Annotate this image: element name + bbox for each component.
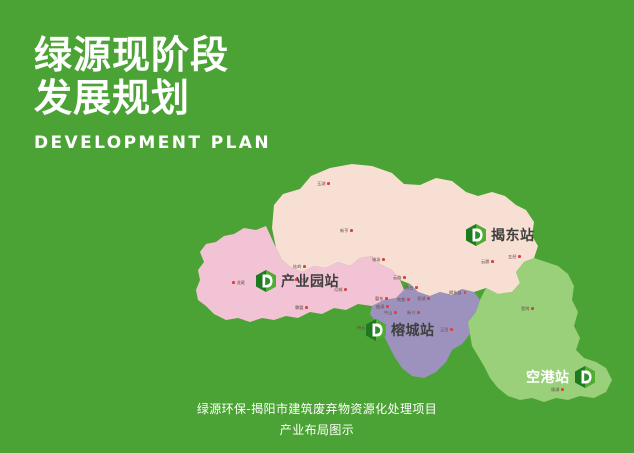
town-label: 霖磐 (295, 305, 308, 310)
town-dot-icon (415, 286, 418, 289)
town-name: 玉湖 (317, 181, 325, 186)
station-marker-industrial-park[interactable]: 产业园站 (256, 270, 339, 292)
title-block: 绿源现阶段 发展规划 DEVELOPMENT PLAN (34, 34, 364, 153)
station-label-jiedong: 揭东站 (491, 225, 535, 245)
town-label: 揭东县 (449, 290, 466, 295)
town-name: 揭东县 (449, 290, 462, 295)
town-dot-icon (327, 182, 330, 185)
town-name: 渔湖 (417, 296, 425, 301)
town-dot-icon (561, 388, 564, 391)
caption-line-1: 绿源环保-揭阳市建筑废弃物资源化处理项目 (0, 399, 634, 420)
town-name: 磐东 (375, 296, 383, 301)
town-dot-icon (303, 265, 306, 268)
caption-block: 绿源环保-揭阳市建筑废弃物资源化处理项目 产业布局图示 (0, 399, 634, 441)
town-dot-icon (450, 328, 453, 331)
poster-root: 绿源现阶段 发展规划 DEVELOPMENT PLAN 玉湖新亨锡场桂岭白塔龙尾… (0, 0, 634, 453)
town-dot-icon (232, 281, 235, 284)
town-label: 曲溪 (376, 304, 389, 309)
town-name: 地都 (397, 297, 405, 302)
town-name: 云路 (393, 275, 401, 280)
town-label: 锡场 (372, 257, 385, 262)
town-name: 曲溪 (376, 304, 384, 309)
town-label: 中山 (384, 310, 397, 315)
town-label: 渔湖 (417, 296, 430, 301)
town-label: 云鼎 (481, 259, 494, 264)
station-label-industrial-park: 产业园站 (281, 271, 339, 291)
town-dot-icon (305, 306, 308, 309)
town-name: 登岗 (521, 306, 529, 311)
town-name: 云鼎 (481, 259, 489, 264)
town-label: 桂岭 (293, 264, 306, 269)
town-dot-icon (344, 288, 347, 291)
town-dot-icon (531, 307, 534, 310)
station-label-rongcheng: 榕城站 (391, 320, 435, 340)
town-dot-icon (386, 305, 389, 308)
station-marker-rongcheng[interactable]: 榕城站 (366, 319, 435, 341)
town-name: 桂岭 (293, 264, 301, 269)
town-name: 玉滘 (440, 327, 448, 332)
town-name: 中山 (384, 310, 392, 315)
town-dot-icon (407, 298, 410, 301)
town-name: 锡场 (372, 257, 380, 262)
town-name: 龙尾 (237, 280, 245, 285)
greenyuan-logo-icon (466, 224, 486, 246)
town-name: 梅云 (357, 325, 365, 330)
town-name: 霖磐 (295, 305, 303, 310)
town-name: 新兴 (407, 310, 415, 315)
town-dot-icon (417, 311, 420, 314)
town-dot-icon (382, 258, 385, 261)
town-label: 新亨 (340, 228, 353, 233)
town-dot-icon (491, 260, 494, 263)
town-label: 炮台 (405, 285, 418, 290)
town-label: 龙尾 (232, 280, 245, 285)
town-dot-icon (385, 297, 388, 300)
town-label: 地都 (397, 297, 410, 302)
page-title-line-2: 发展规划 (34, 77, 364, 120)
town-name: 五经 (508, 254, 516, 259)
town-dot-icon (394, 311, 397, 314)
town-label: 新兴 (407, 310, 420, 315)
caption-line-2: 产业布局图示 (0, 420, 634, 441)
town-label: 玉滘 (440, 327, 453, 332)
town-name: 炮台 (405, 285, 413, 290)
town-dot-icon (427, 297, 430, 300)
town-dot-icon (464, 291, 467, 294)
town-label: 登岗 (521, 306, 534, 311)
town-dot-icon (350, 229, 353, 232)
station-label-airport: 空港站 (526, 367, 570, 387)
town-label: 五经 (508, 254, 521, 259)
station-marker-airport[interactable]: 空港站 (526, 366, 595, 388)
town-label: 玉湖 (317, 181, 330, 186)
page-title-line-1: 绿源现阶段 (34, 34, 364, 77)
greenyuan-logo-icon (366, 319, 386, 341)
greenyuan-logo-icon (575, 366, 595, 388)
page-subtitle-english: DEVELOPMENT PLAN (34, 133, 364, 153)
town-dot-icon (403, 276, 406, 279)
town-label: 磐东 (375, 296, 388, 301)
town-label: 云路 (393, 275, 406, 280)
station-marker-jiedong[interactable]: 揭东站 (466, 224, 535, 246)
town-name: 新亨 (340, 228, 348, 233)
greenyuan-logo-icon (256, 270, 276, 292)
town-dot-icon (518, 255, 521, 258)
